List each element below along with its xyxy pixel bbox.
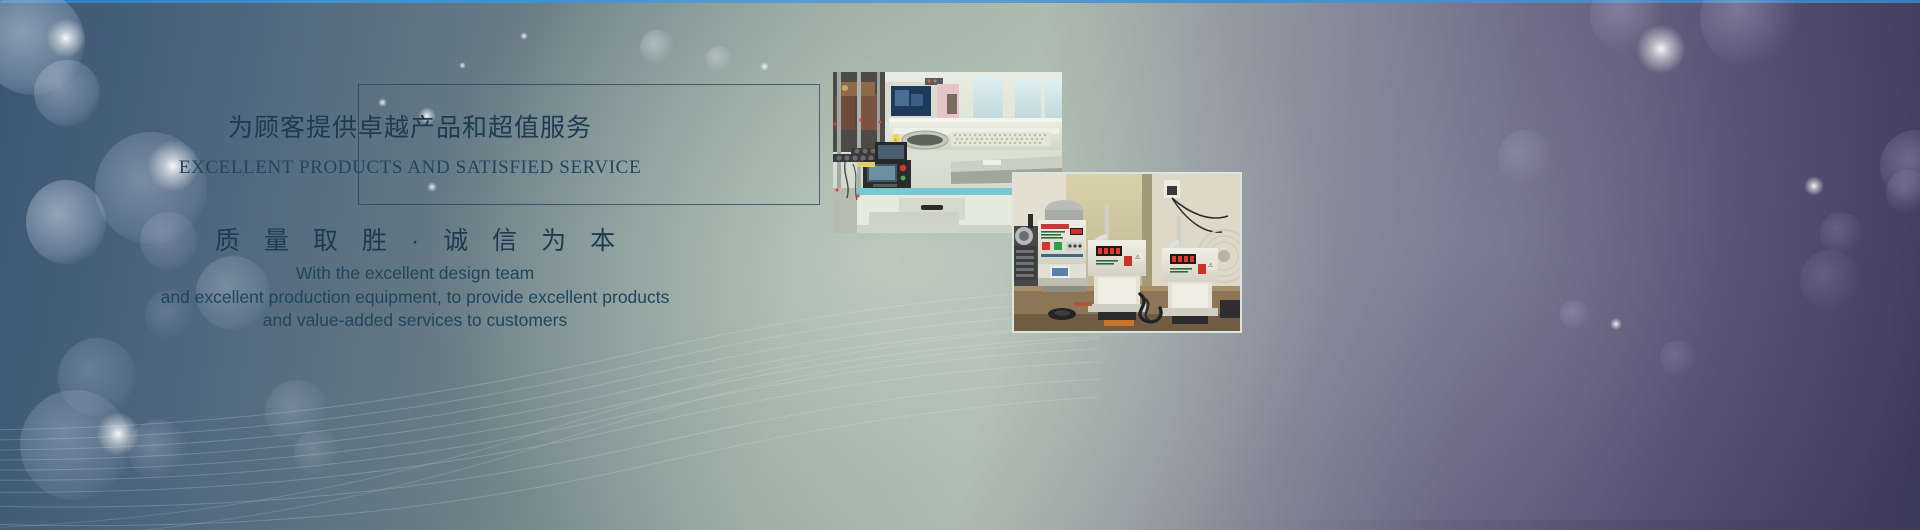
headline-english: EXCELLENT PRODUCTS AND SATISFIED SERVICE — [0, 155, 820, 181]
top-accent-rule — [0, 0, 1920, 3]
right-glow — [1180, 0, 1920, 520]
hero-banner: 为顾客提供卓越产品和超值服务 EXCELLENT PRODUCTS AND SA… — [0, 0, 1920, 530]
slogan-chinese: 质量取胜·诚信为本 — [0, 224, 830, 258]
description-line-3: and value-added services to customers — [0, 309, 830, 333]
description-paragraph: With the excellent design team and excel… — [0, 262, 830, 333]
crimping-machines-photo[interactable]: ⚠ ⚠ — [1012, 172, 1242, 333]
svg-text:⚠: ⚠ — [1135, 254, 1141, 261]
svg-text:⚠: ⚠ — [1208, 262, 1214, 269]
headline-chinese: 为顾客提供卓越产品和超值服务 — [0, 108, 820, 148]
description-line-1: With the excellent design team — [0, 262, 830, 286]
description-line-2: and excellent production equipment, to p… — [0, 286, 830, 310]
